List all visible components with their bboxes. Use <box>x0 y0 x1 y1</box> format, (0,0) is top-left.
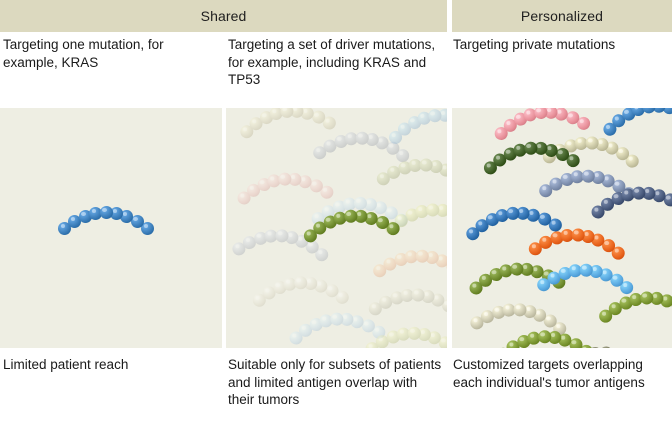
peptide-bead <box>415 249 428 262</box>
illustration-panel-one-mutation <box>0 108 222 348</box>
peptide-bead <box>599 346 613 348</box>
illustration-panel-driver-mutations <box>226 108 447 348</box>
peptide-bead <box>411 288 425 302</box>
illustration-panel-private-mutations <box>452 108 672 348</box>
group-header-shared-label: Shared <box>201 8 247 24</box>
peptide-bead <box>407 327 420 340</box>
peptide-bead <box>353 197 366 210</box>
peptide-bead <box>579 263 592 276</box>
figure-root: Shared Personalized Targeting one mutati… <box>0 0 672 446</box>
top-description-row: Targeting one mutation, for example, KRA… <box>0 36 672 104</box>
bottom-description-one-mutation: Limited patient reach <box>3 356 215 374</box>
peptide-bead <box>581 169 594 182</box>
group-header-personalized-label: Personalized <box>521 8 603 24</box>
peptide-bead <box>585 136 599 150</box>
peptide-bead <box>419 158 433 172</box>
peptide-bead <box>100 206 113 219</box>
peptide-bead <box>640 291 654 305</box>
bottom-description-driver-mutations: Suitable only for subsets of patients an… <box>228 356 444 409</box>
peptide-bead <box>355 131 368 144</box>
top-description-driver-mutations: Targeting a set of driver mutations, for… <box>228 36 440 89</box>
group-header-row: Shared Personalized <box>0 0 672 32</box>
top-description-private-mutations: Targeting private mutations <box>453 36 671 54</box>
top-description-one-mutation: Targeting one mutation, for example, KRA… <box>3 36 215 71</box>
group-header-personalized: Personalized <box>452 0 672 32</box>
peptide-bead <box>426 203 440 217</box>
bottom-description-private-mutations: Customized targets overlapping each indi… <box>453 356 672 391</box>
bottom-description-row: Limited patient reach Suitable only for … <box>0 356 672 446</box>
peptide-bead <box>294 276 307 289</box>
peptide-bead <box>571 228 585 242</box>
group-header-shared: Shared <box>0 0 447 32</box>
peptide-bead <box>538 330 551 343</box>
